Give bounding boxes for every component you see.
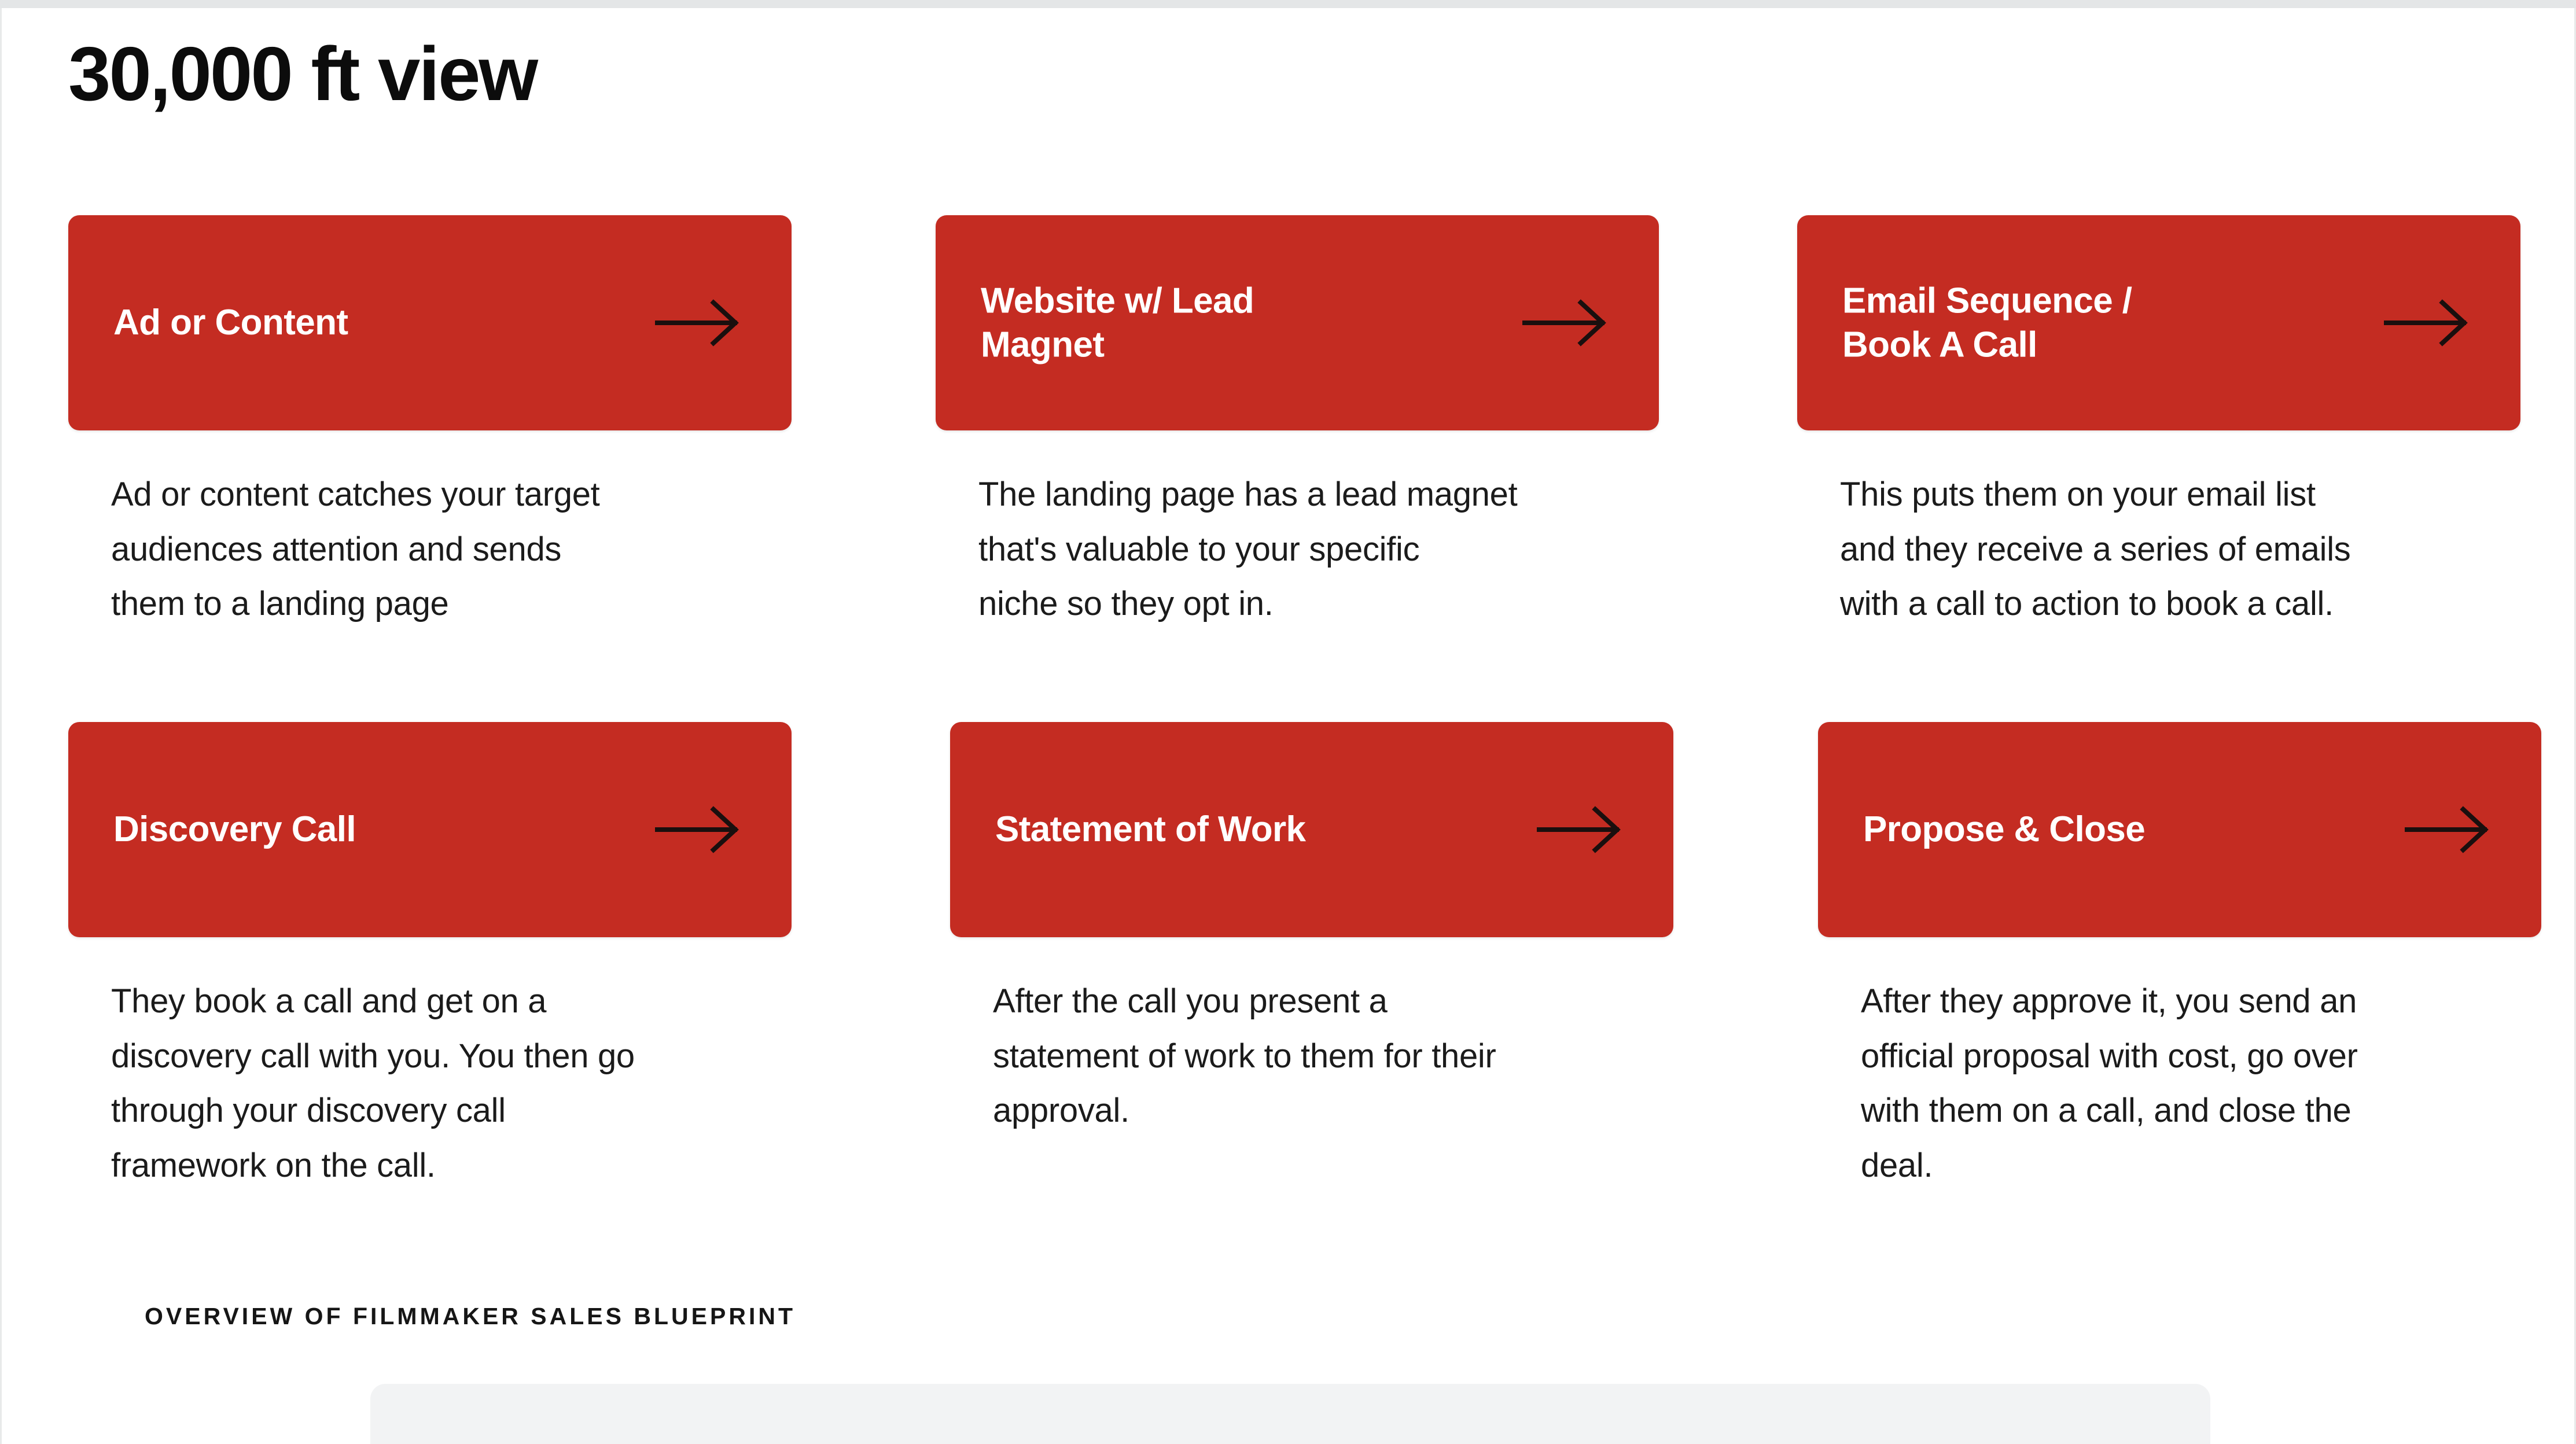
step-card-title-5: Statement of Work	[995, 808, 1305, 852]
arrow-right-icon	[655, 805, 742, 854]
step-card-1[interactable]: Ad or Content	[68, 215, 792, 430]
step-cell-5: Statement of Work After the call you pre…	[950, 722, 1673, 937]
arrow-right-icon	[2405, 805, 2492, 854]
step-cell-2: Website w/ Lead Magnet The landing page …	[936, 215, 1659, 430]
step-card-5[interactable]: Statement of Work	[950, 722, 1673, 937]
step-card-4[interactable]: Discovery Call	[68, 722, 792, 937]
next-slide-peek	[370, 1384, 2210, 1444]
previous-slide-edge	[0, 0, 2576, 8]
step-card-title-6: Propose & Close	[1863, 808, 2145, 852]
step-card-title-1: Ad or Content	[113, 301, 348, 345]
step-description-4: They book a call and get on a discovery …	[111, 974, 782, 1193]
step-card-title-3: Email Sequence / Book A Call	[1842, 279, 2132, 366]
arrow-right-icon	[1537, 805, 1624, 854]
step-card-6[interactable]: Propose & Close	[1818, 722, 2541, 937]
step-description-1: Ad or content catches your target audien…	[111, 467, 759, 632]
page-title: 30,000 ft view	[68, 36, 536, 112]
step-cell-1: Ad or Content Ad or content catches your…	[68, 215, 792, 430]
step-cell-3: Email Sequence / Book A Call This puts t…	[1797, 215, 2520, 430]
step-description-3: This puts them on your email list and th…	[1840, 467, 2511, 632]
step-description-2: The landing page has a lead magnet that'…	[978, 467, 1650, 632]
arrow-right-icon	[2384, 298, 2471, 348]
step-description-6: After they approve it, you send an offic…	[1861, 974, 2532, 1193]
step-card-3[interactable]: Email Sequence / Book A Call	[1797, 215, 2520, 430]
slide-canvas: 30,000 ft view Ad or Content Ad or conte…	[0, 0, 2576, 1444]
step-card-title-2: Website w/ Lead Magnet	[981, 279, 1254, 366]
arrow-right-icon	[655, 298, 742, 348]
step-card-2[interactable]: Website w/ Lead Magnet	[936, 215, 1659, 430]
arrow-right-icon	[1522, 298, 1609, 348]
step-cell-6: Propose & Close After they approve it, y…	[1818, 722, 2541, 937]
step-card-title-4: Discovery Call	[113, 808, 356, 852]
footer-caption: OVERVIEW OF FILMMAKER SALES BLUEPRINT	[145, 1303, 796, 1330]
step-description-5: After the call you present a statement o…	[993, 974, 1664, 1139]
step-cell-4: Discovery Call They book a call and get …	[68, 722, 792, 937]
